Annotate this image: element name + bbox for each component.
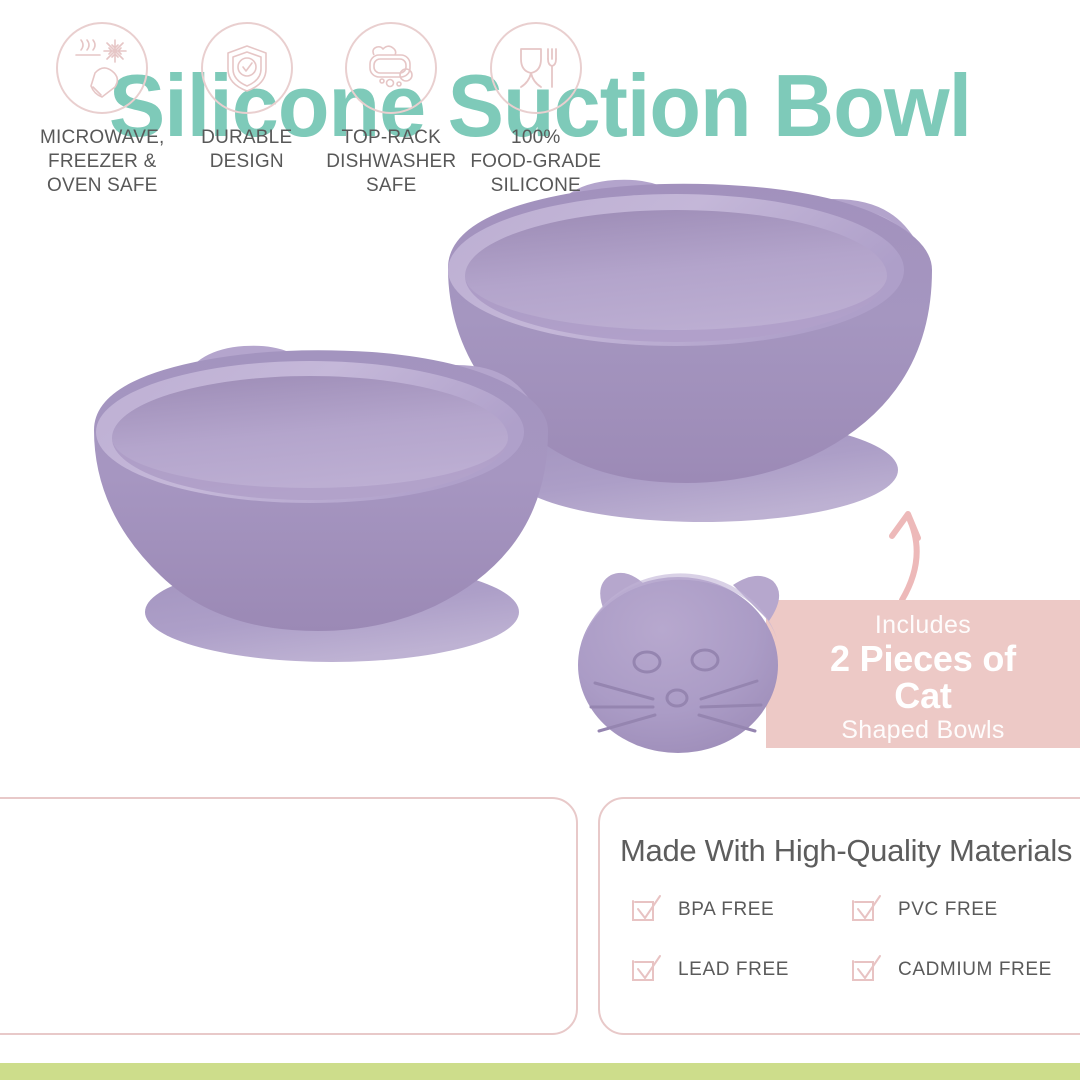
microwave-freezer-oven-icon <box>56 22 148 114</box>
curved-up-arrow-icon <box>858 492 948 604</box>
feature-dishwasher-safe: TOP-RACK DISHWASHER SAFE <box>321 22 461 198</box>
cat-shaped-bowl-image <box>565 555 795 760</box>
material-item-pvc-free: PVC FREE <box>850 893 1070 927</box>
small-bowl-image <box>70 330 570 690</box>
checkbox-checked-icon <box>630 953 664 987</box>
features-list: MICROWAVE, FREEZER & OVEN SAFE DURABLE D… <box>30 0 608 238</box>
feature-durable-design: DURABLE DESIGN <box>177 22 317 174</box>
materials-heading: Made With High-Quality Materials <box>620 833 1072 869</box>
includes-callout-box: Includes 2 Pieces of Cat Shaped Bowls <box>766 600 1080 748</box>
material-label: BPA FREE <box>678 899 774 921</box>
glass-and-fork-food-safe-icon <box>490 22 582 114</box>
material-label: LEAD FREE <box>678 959 789 981</box>
material-label: CADMIUM FREE <box>898 959 1052 981</box>
callout-line-shaped-bowls: Shaped Bowls <box>766 714 1080 746</box>
product-infographic: Silicone Suction Bowl <box>0 0 1080 1080</box>
callout-line-cat: Cat <box>766 677 1080 714</box>
material-label: PVC FREE <box>898 899 998 921</box>
dishwasher-bubbles-icon <box>345 22 437 114</box>
checkbox-checked-icon <box>850 893 884 927</box>
callout-line-includes: Includes <box>766 610 1080 640</box>
material-item-lead-free: LEAD FREE <box>630 953 850 987</box>
checkbox-checked-icon <box>850 953 884 987</box>
feature-food-grade-silicone: 100% FOOD-GRADE SILICONE <box>466 22 606 198</box>
material-item-cadmium-free: CADMIUM FREE <box>850 953 1070 987</box>
bottom-green-strip <box>0 1063 1080 1080</box>
materials-list: BPA FREE PVC FREE LEAD FREE CADMIUM FREE <box>630 893 1080 987</box>
features-panel <box>0 797 578 1035</box>
feature-label: MICROWAVE, FREEZER & OVEN SAFE <box>32 126 172 198</box>
feature-label: 100% FOOD-GRADE SILICONE <box>466 126 606 198</box>
feature-label: TOP-RACK DISHWASHER SAFE <box>321 126 461 198</box>
material-item-bpa-free: BPA FREE <box>630 893 850 927</box>
shield-check-icon <box>201 22 293 114</box>
checkbox-checked-icon <box>630 893 664 927</box>
feature-microwave-freezer-oven: MICROWAVE, FREEZER & OVEN SAFE <box>32 22 172 198</box>
callout-line-pieces: 2 Pieces of <box>766 640 1080 677</box>
feature-label: DURABLE DESIGN <box>177 126 317 174</box>
